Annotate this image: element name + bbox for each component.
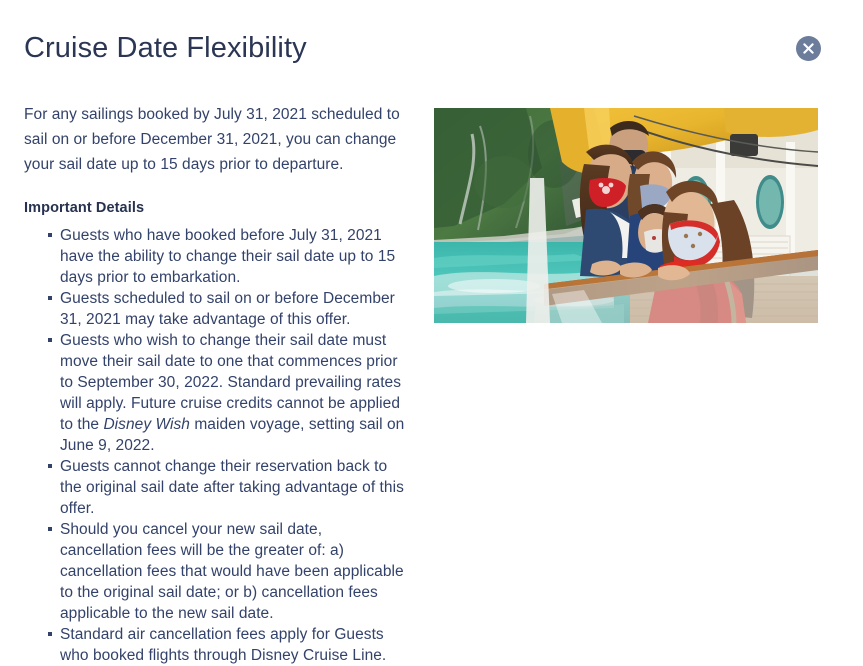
list-item: Guests who wish to change their sail dat… [24,330,406,456]
close-icon [803,43,814,54]
modal-header: Cruise Date Flexibility [0,0,863,88]
list-item: Guests scheduled to sail on or before De… [24,288,406,330]
list-item: Standard air cancellation fees apply for… [24,624,406,666]
list-item-text: Guests cannot change their reservation b… [60,458,404,517]
modal-body: For any sailings booked by July 31, 2021… [0,88,863,663]
important-details-heading: Important Details [24,200,406,216]
close-button[interactable] [796,36,821,61]
emphasized-text: Disney Wish [103,416,190,433]
family-on-cruise-deck-photo [434,108,818,323]
list-item-text: Guests scheduled to sail on or before De… [60,290,395,328]
important-details-list: Guests who have booked before July 31, 2… [24,225,406,666]
list-item: Guests cannot change their reservation b… [24,456,406,519]
text-column: For any sailings booked by July 31, 2021… [24,102,406,666]
list-item-text: Should you cancel your new sail date, ca… [60,521,404,622]
list-item-text: Guests who have booked before July 31, 2… [60,227,395,286]
cruise-date-flexibility-modal: Cruise Date Flexibility For any sailings… [0,0,863,663]
intro-paragraph: For any sailings booked by July 31, 2021… [24,102,406,177]
list-item: Should you cancel your new sail date, ca… [24,519,406,624]
page-title: Cruise Date Flexibility [24,28,307,68]
list-item-text: Standard air cancellation fees apply for… [60,626,386,664]
list-item: Guests who have booked before July 31, 2… [24,225,406,288]
